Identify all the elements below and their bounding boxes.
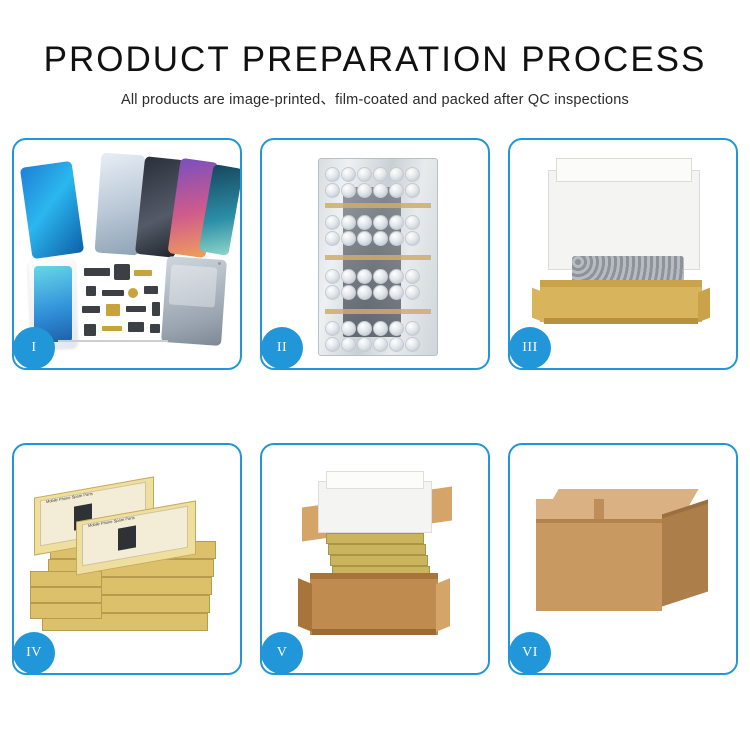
step-badge-1: I	[13, 327, 55, 369]
poster-root: PRODUCT PREPARATION PROCESS All products…	[0, 0, 750, 750]
step-badge-2: II	[261, 327, 303, 369]
step-card-6: VI	[508, 443, 738, 675]
step-badge-5: V	[261, 632, 303, 674]
step-card-4: Mobile Phone Spare Parts Mobile Phone Sp…	[12, 443, 242, 675]
process-grid: I	[12, 138, 738, 678]
step-card-5: V	[260, 443, 490, 675]
step-badge-6: VI	[509, 632, 551, 674]
step-card-1: I	[12, 138, 242, 370]
page-title: PRODUCT PREPARATION PROCESS	[0, 40, 750, 80]
page-subtitle: All products are image-printed、film-coat…	[0, 88, 750, 109]
step-card-3: III	[508, 138, 738, 370]
step-badge-4: IV	[13, 632, 55, 674]
step-badge-3: III	[509, 327, 551, 369]
step-card-2: II	[260, 138, 490, 370]
